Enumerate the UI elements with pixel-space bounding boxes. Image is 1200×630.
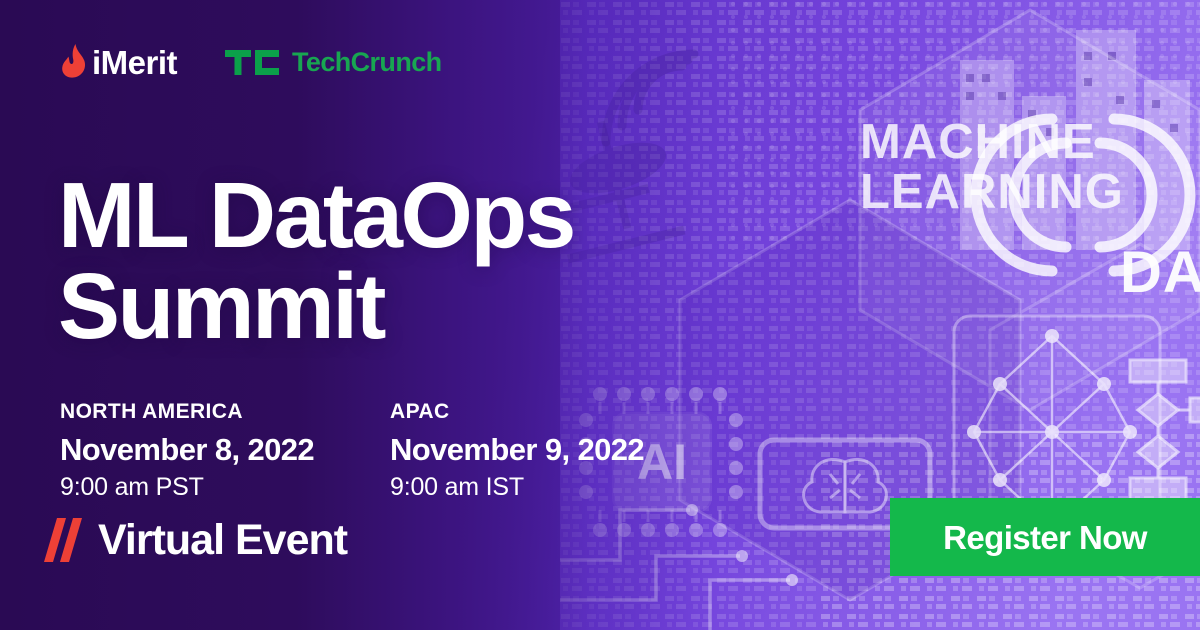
event-banner: AI [0, 0, 1200, 630]
logo-row: iMerit TechCrunch [60, 44, 442, 80]
register-now-label: Register Now [943, 521, 1147, 554]
double-slash-icon [44, 518, 84, 562]
region-north-america: NORTH AMERICA November 8, 2022 9:00 am P… [60, 400, 335, 502]
region-time: 9:00 am IST [390, 472, 665, 502]
virtual-event-tag: Virtual Event [44, 518, 347, 562]
artwork-machine-label: MACHINE [860, 115, 1096, 169]
register-now-button[interactable]: Register Now [890, 498, 1200, 576]
region-list: NORTH AMERICA November 8, 2022 9:00 am P… [60, 400, 665, 502]
region-label: APAC [390, 400, 665, 423]
region-apac: APAC November 9, 2022 9:00 am IST [390, 400, 665, 502]
region-label: NORTH AMERICA [60, 400, 335, 423]
artwork-data-label: DATA [1120, 240, 1200, 305]
region-date: November 9, 2022 [390, 432, 665, 468]
imerit-wordmark: iMerit [92, 46, 177, 79]
page-title: ML DataOps Summit [58, 170, 574, 352]
flame-icon [60, 44, 87, 80]
region-time: 9:00 am PST [60, 472, 335, 502]
virtual-event-label: Virtual Event [98, 519, 347, 562]
imerit-logo: iMerit [60, 44, 177, 80]
artwork-learning-label: LEARNING [860, 165, 1124, 219]
region-date: November 8, 2022 [60, 432, 335, 468]
techcrunch-logo: TechCrunch [225, 49, 442, 76]
tc-monogram-icon [225, 50, 279, 75]
techcrunch-wordmark: TechCrunch [292, 49, 442, 76]
